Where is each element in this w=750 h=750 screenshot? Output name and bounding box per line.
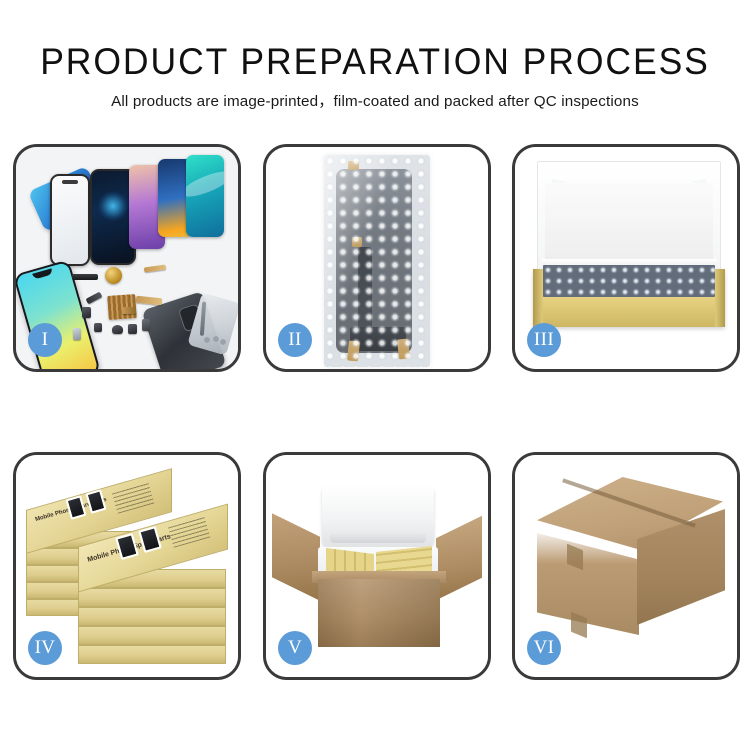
plastic-gloss-overlay [324, 155, 430, 367]
step-badge-2: II [278, 323, 312, 357]
step-badge-5: V [278, 631, 312, 665]
teal-phone-icon [186, 155, 224, 237]
small-part-icon-1 [82, 307, 91, 318]
antenna-bar-icon [72, 274, 98, 280]
front-stack-box-3 [78, 607, 226, 626]
process-step-panel-1: I [13, 144, 241, 372]
process-step-panel-6: VI [512, 452, 740, 680]
small-part-icon-7 [122, 307, 136, 314]
bubble-wrap-pack-icon [324, 155, 430, 367]
step-badge-4: IV [28, 631, 62, 665]
screws-icon [204, 335, 226, 345]
front-stack-box-2 [78, 588, 226, 607]
small-part-icon-4 [128, 324, 137, 334]
process-step-panel-3: III [512, 144, 740, 372]
small-part-icon-6 [73, 328, 81, 340]
front-stack-box-4 [78, 626, 226, 645]
step-badge-6: VI [527, 631, 561, 665]
speaker-module-icon [105, 267, 122, 284]
foam-lid-icon [322, 485, 434, 547]
process-step-panel-4: Mobile Phone Spare Parts Mobile Phone Sp… [13, 452, 241, 680]
open-carton-body-icon [318, 579, 440, 647]
step-badge-3: III [527, 323, 561, 357]
small-part-icon-3 [112, 325, 123, 334]
tempered-glass-phone-icon [50, 174, 90, 266]
front-stack-box-5 [78, 645, 226, 664]
small-part-icon-2 [94, 323, 102, 332]
step-badge-1: I [28, 323, 62, 357]
process-step-panel-5: V [263, 452, 491, 680]
small-part-icon-5 [142, 319, 150, 331]
bubble-wrapped-item-in-box-icon [543, 265, 715, 297]
process-step-grid: I II [0, 0, 750, 750]
process-step-panel-2: II [263, 144, 491, 372]
product-preparation-process-page: PRODUCT PREPARATION PROCESS All products… [0, 0, 750, 750]
